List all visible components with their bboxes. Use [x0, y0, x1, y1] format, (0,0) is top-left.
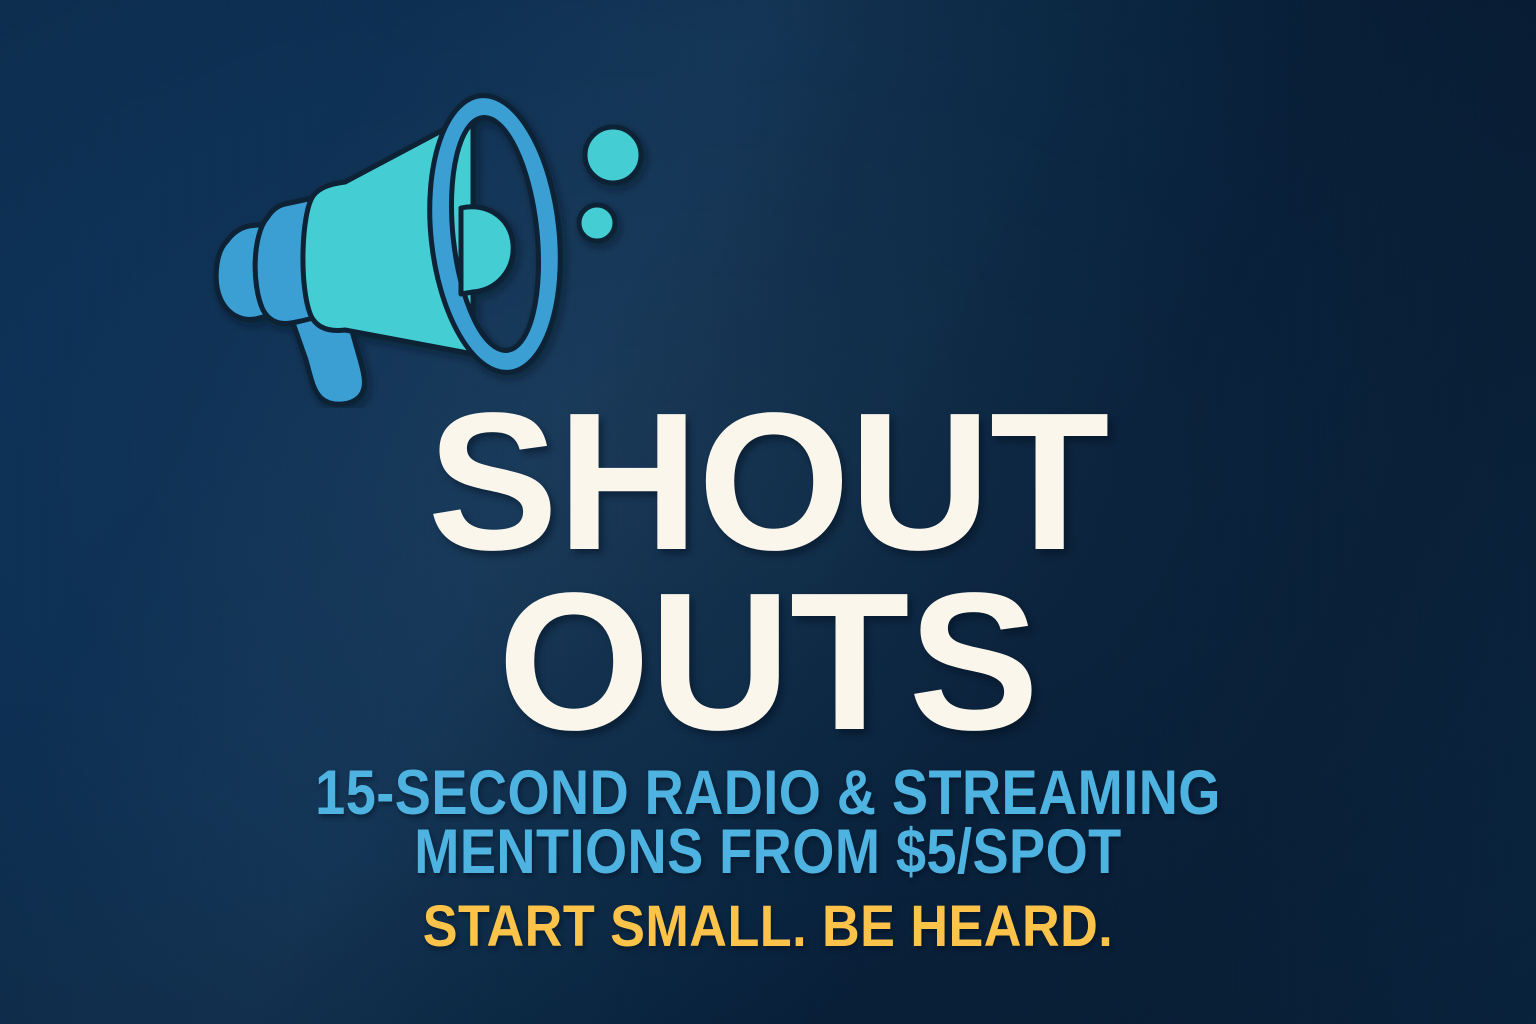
- poster-title-line-2-wrap: OUTS: [0, 578, 1536, 747]
- poster-subtitle-line-2: MENTIONS FROM $5/SPOT: [108, 821, 1429, 884]
- poster-subtitle-line-1: 15-SECOND RADIO & STREAMING: [108, 762, 1429, 825]
- poster-title-line-2: OUTS: [0, 578, 1536, 747]
- shout-outs-poster: SHOUT OUTS 15-SECOND RADIO & STREAMING M…: [0, 0, 1536, 1024]
- sound-bubble-large-icon: [585, 127, 641, 183]
- poster-title-line-1-wrap: SHOUT: [0, 398, 1536, 567]
- poster-title-line-1: SHOUT: [0, 398, 1536, 567]
- megaphone-icon: [205, 78, 675, 408]
- sound-bubble-small-icon: [579, 205, 615, 241]
- poster-tagline: START SMALL. BE HEARD.: [77, 898, 1459, 956]
- megaphone-mouth-disc: [461, 207, 513, 294]
